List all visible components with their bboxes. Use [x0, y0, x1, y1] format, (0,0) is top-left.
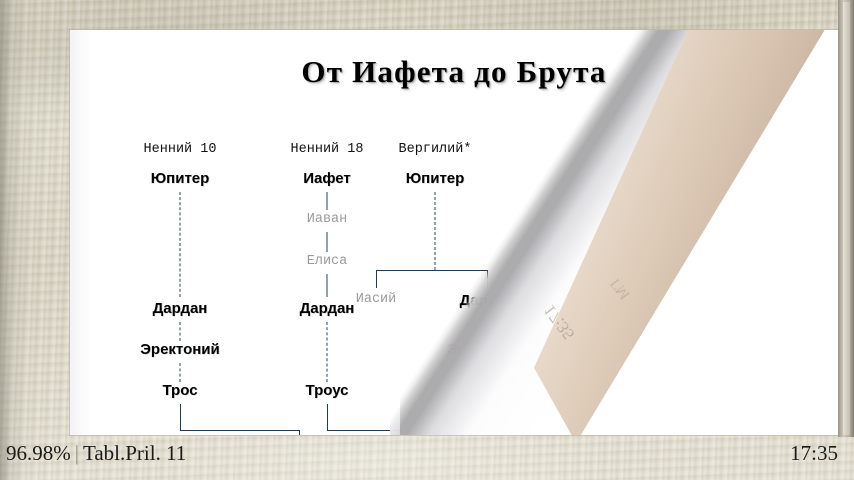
slide-page[interactable]: От Иафета до Брута Ненний 10 Юпитер Дард… [70, 30, 838, 435]
connector-3-2 [487, 314, 489, 341]
status-separator: | [75, 441, 79, 466]
branch-stem-1 [180, 404, 181, 430]
connector-2-0 [327, 192, 329, 210]
branch-bar-1 [180, 430, 300, 431]
branch-bar-2 [327, 430, 540, 431]
connector-4-4 [635, 377, 637, 402]
node-5-3: Сильвий [752, 355, 818, 372]
connector-5-2 [785, 327, 787, 352]
fork-bar-3 [376, 270, 488, 271]
clock: 17:35 [790, 441, 838, 466]
connector-3-3 [487, 363, 489, 382]
node-3-4: Трос [469, 382, 504, 399]
connector-1-0 [180, 192, 182, 297]
status-bar-left: 96.98% | Tabl.Pril. 11 [6, 441, 186, 466]
connector-4-3 [635, 327, 637, 352]
page-curl-shadow [400, 30, 838, 435]
column-header-4: ГМ и J [611, 142, 660, 157]
page-curl-ghost-clock: 17:35 [540, 301, 580, 344]
page-curl-ghost-mark: ГМ [607, 275, 634, 303]
column-header-2: Ненний 18 [291, 142, 364, 157]
window-scrollbar-sliver[interactable] [843, 2, 850, 435]
connector-3-0 [435, 192, 437, 270]
connector-1-1 [180, 322, 182, 341]
node-1-1: Дардан [153, 300, 208, 317]
node-2-0: Иафет [303, 170, 351, 187]
window-right-edge [838, 0, 854, 437]
fork-drop-3-left [376, 270, 377, 288]
column-header-1: Ненний 10 [144, 142, 217, 157]
connector-4-1 [635, 234, 637, 254]
node-4-2: Эней [616, 256, 653, 273]
page-curl-sheen [525, 30, 825, 435]
node-1-2: Эректоний [140, 341, 220, 358]
node-2-1: Иаван [307, 212, 348, 227]
node-4-3: Асканий [604, 305, 666, 322]
connector-3-4 [487, 404, 489, 435]
connector-2-3 [327, 322, 329, 382]
connector-4-2 [635, 278, 637, 302]
node-3-1: Иасий [356, 292, 397, 307]
node-5-2: Асканий [754, 305, 816, 322]
connector-1-2 [180, 363, 182, 382]
page-title: От Иафета до Брута [70, 54, 838, 90]
node-4-1: Анхиз [613, 212, 658, 229]
node-2-2: Елиса [307, 254, 348, 269]
status-bar: 96.98% | Tabl.Pril. 11 17:35 [0, 435, 854, 480]
node-5-0: Анхиз [763, 212, 808, 229]
node-4-4: Сильвий [602, 355, 668, 372]
page-curl-flap [525, 30, 825, 435]
node-5-1: Эней [766, 256, 803, 273]
connector-2-2 [327, 274, 329, 297]
node-3-3: Эриктоний [447, 341, 527, 358]
fork-drop-3-right [487, 270, 488, 288]
zoom-level[interactable]: 96.98% [6, 441, 71, 466]
node-3-0: Юпитер [406, 170, 465, 187]
node-1-3: Трос [162, 382, 197, 399]
node-2-4: Троус [305, 382, 348, 399]
node-3-2: Дардан [460, 292, 515, 309]
node-4-5: Брут [617, 405, 653, 422]
document-name[interactable]: Tabl.Pril. 11 [83, 441, 186, 466]
connector-5-1 [785, 278, 787, 302]
branch-stem-2 [327, 404, 328, 430]
page-curl-underside [390, 30, 838, 435]
column-header-3: Вергилий* [399, 142, 472, 157]
slide-left-gutter [70, 30, 92, 435]
node-1-0: Юпитер [151, 170, 210, 187]
node-2-3: Дардан [300, 300, 355, 317]
connector-5-0 [785, 234, 787, 254]
page-curl: 17:35 ГМ [70, 30, 838, 435]
connector-2-1 [327, 232, 329, 252]
